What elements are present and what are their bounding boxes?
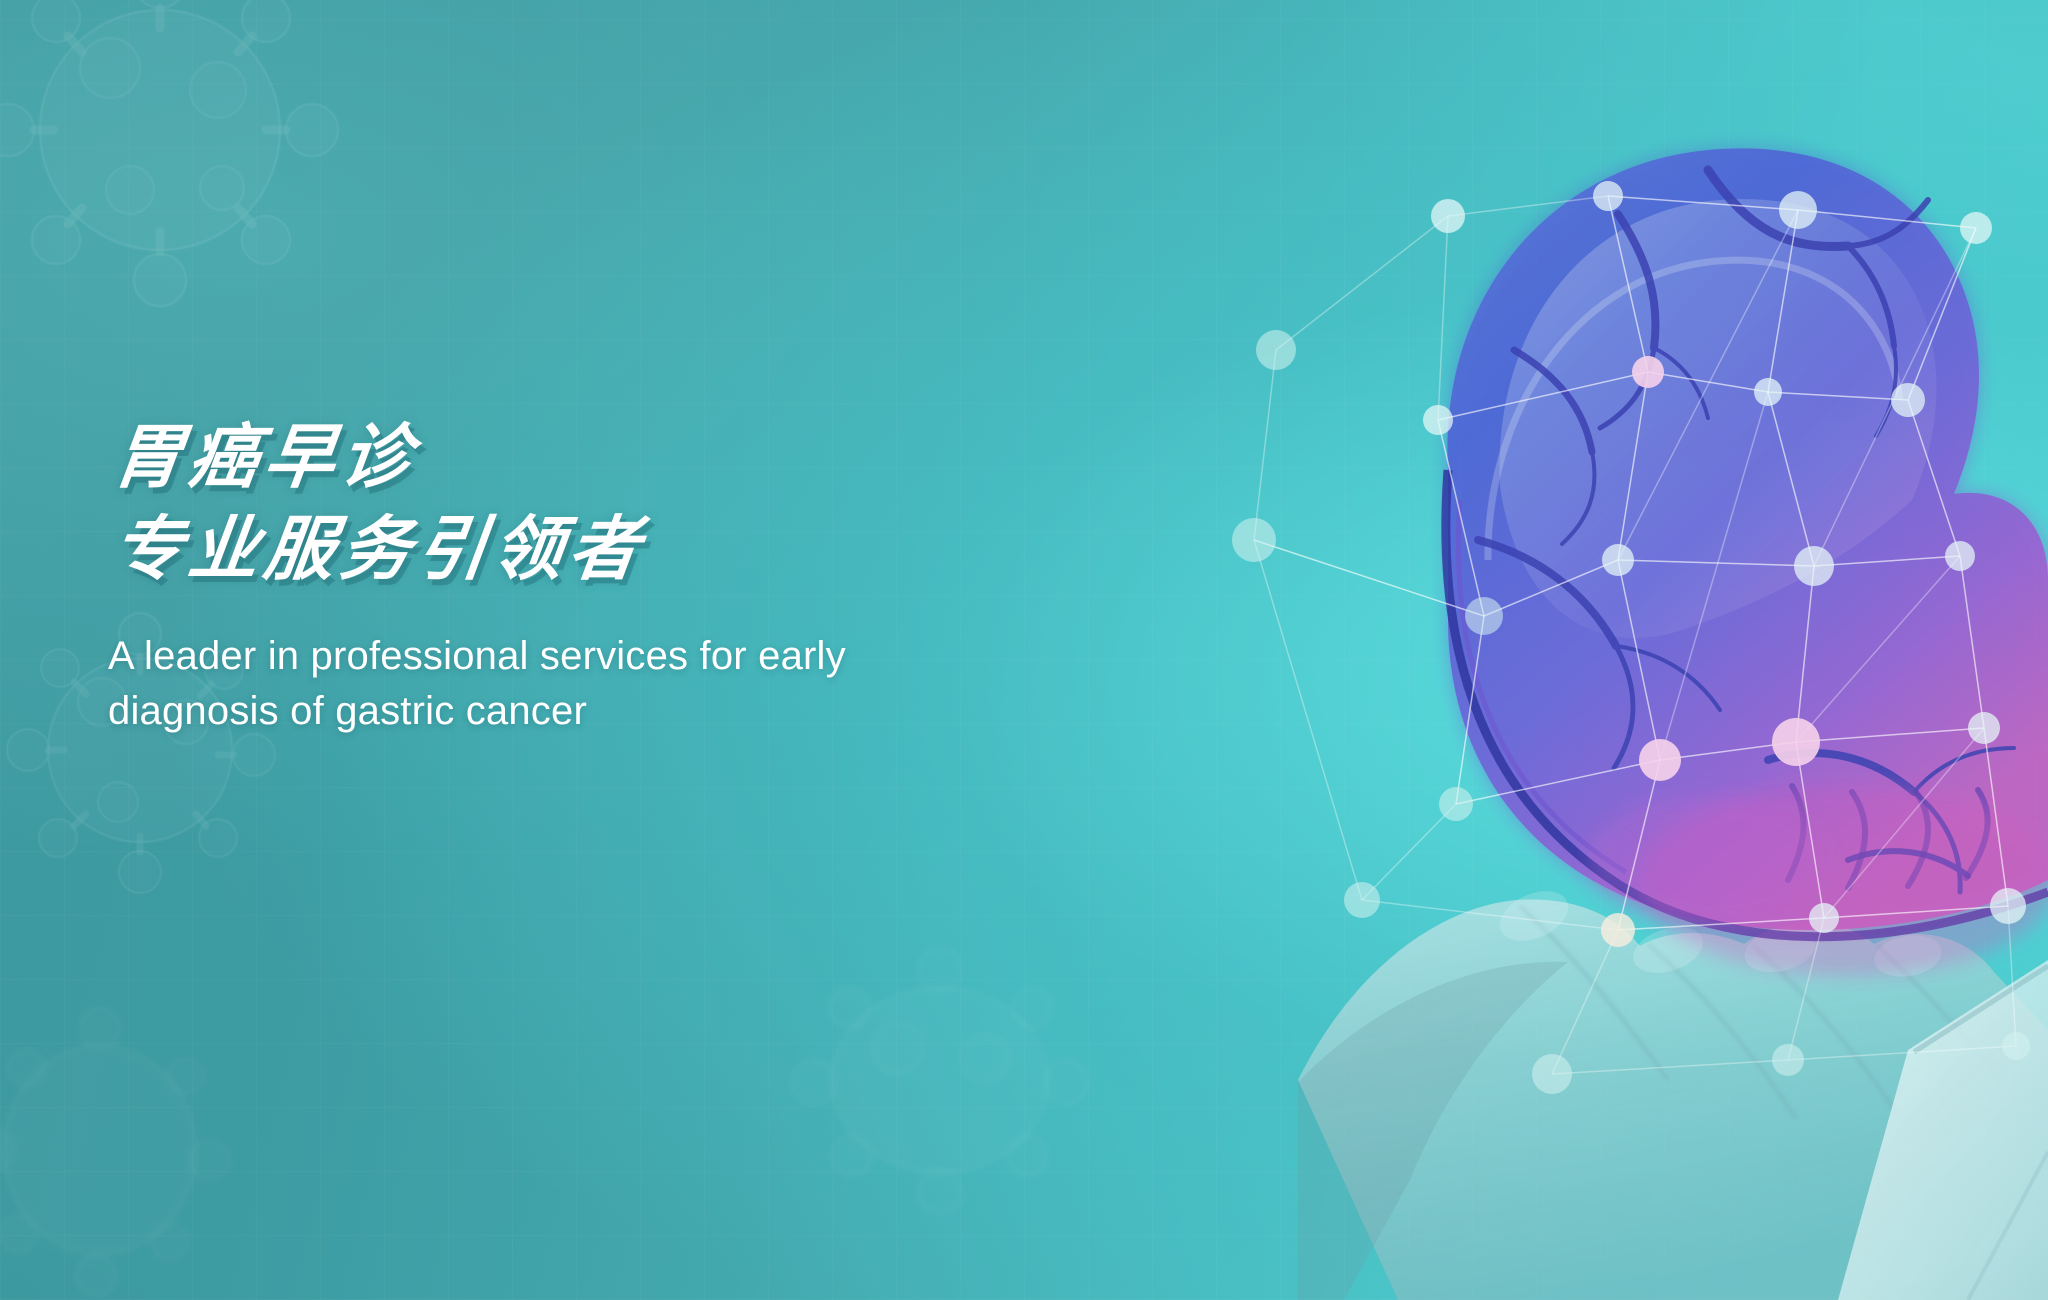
banner-root: 胃癌早诊 专业服务引领者 A leader in professional se… (0, 0, 2048, 1300)
edge-vignette (0, 0, 2048, 1300)
